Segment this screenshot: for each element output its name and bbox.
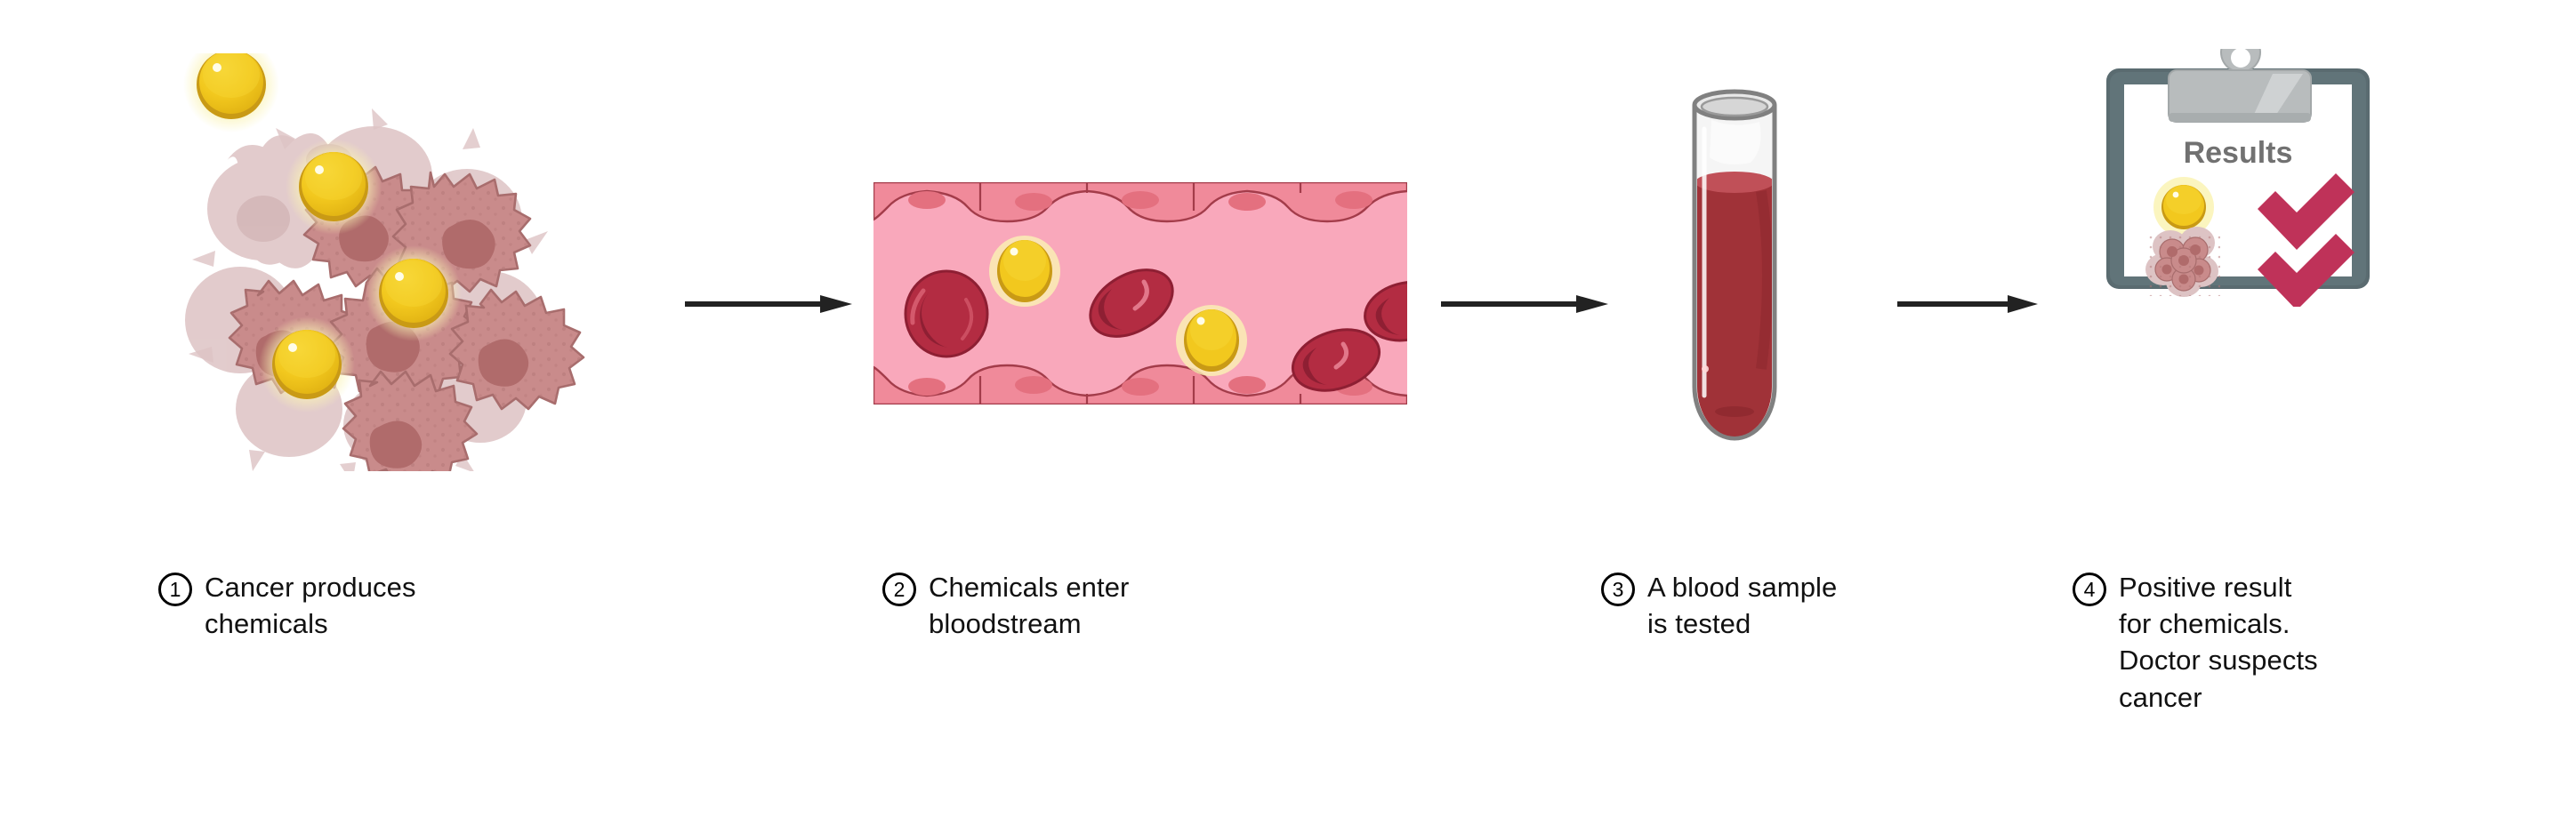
step-number-badge: 1 bbox=[158, 573, 192, 606]
results-heading: Results bbox=[2184, 136, 2293, 170]
blood-vessel-svg bbox=[873, 182, 1407, 404]
step-caption-text: Positive result for chemicals. Doctor su… bbox=[2119, 569, 2318, 716]
chemical-molecule-icon bbox=[1176, 305, 1247, 376]
chemical-molecule-icon bbox=[286, 139, 382, 235]
clipboard-clip bbox=[2169, 49, 2311, 122]
arrow-step1-to-step2 bbox=[685, 286, 854, 326]
step-4-illustration: Results bbox=[2099, 49, 2402, 311]
chemical-molecule-icon bbox=[366, 245, 462, 341]
blood-content bbox=[1695, 172, 1774, 438]
step-caption-text: A blood sample is tested bbox=[1647, 569, 1837, 642]
diagram-canvas: Results bbox=[0, 0, 2576, 825]
step-3-caption: 3 A blood sample is tested bbox=[1601, 569, 1957, 642]
step-caption-text: Chemicals enter bloodstream bbox=[929, 569, 1129, 642]
chemical-molecule-icon bbox=[183, 53, 279, 132]
red-blood-cell bbox=[906, 271, 987, 356]
arrow-step3-to-step4 bbox=[1897, 286, 2040, 326]
step-4-caption: 4 Positive result for chemicals. Doctor … bbox=[2073, 569, 2446, 716]
arrow-step2-to-step3 bbox=[1441, 286, 1610, 326]
chemical-molecule-icon bbox=[2153, 177, 2214, 237]
step-caption-text: Cancer produces chemicals bbox=[205, 569, 416, 642]
step-number-badge: 2 bbox=[882, 573, 916, 606]
chemical-molecule-icon bbox=[259, 316, 355, 412]
step-number-badge: 4 bbox=[2073, 573, 2106, 606]
results-clipboard-svg: Results bbox=[2099, 49, 2402, 307]
step-number-badge: 3 bbox=[1601, 573, 1635, 606]
step-2-illustration bbox=[873, 182, 1407, 409]
tumor-and-molecules-svg bbox=[107, 53, 658, 471]
chemical-molecule-icon bbox=[989, 236, 1060, 307]
tumor-cluster-icon bbox=[2145, 227, 2220, 297]
step-2-caption: 2 Chemicals enter bloodstream bbox=[882, 569, 1256, 642]
step-3-illustration bbox=[1672, 76, 1815, 471]
test-tube-svg bbox=[1672, 76, 1815, 467]
step-1-illustration bbox=[107, 53, 658, 471]
step-1-caption: 1 Cancer produces chemicals bbox=[158, 569, 532, 642]
